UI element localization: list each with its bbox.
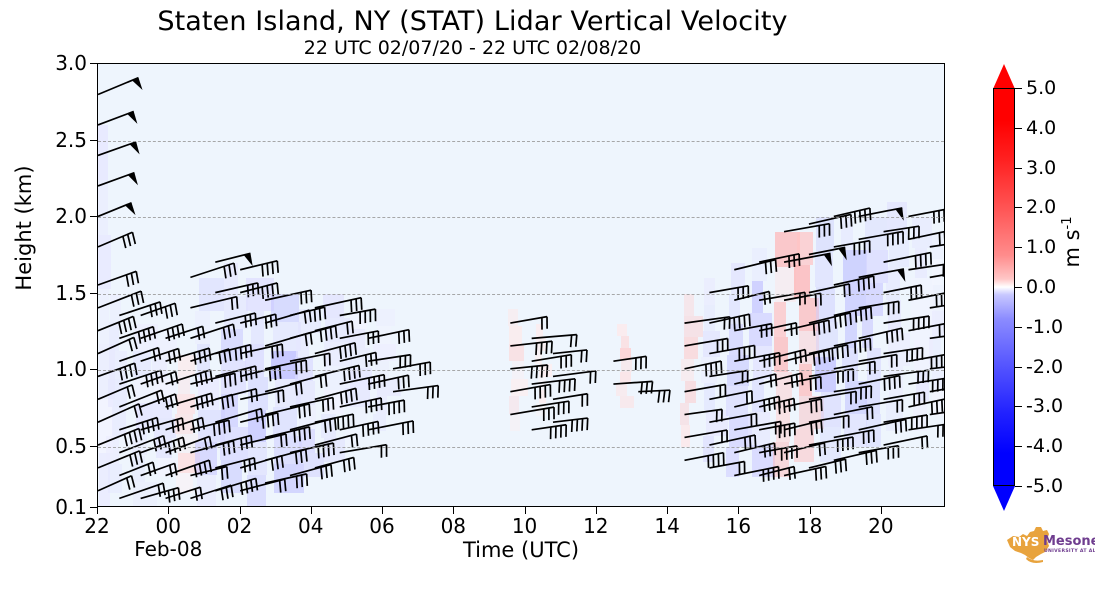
y-tick-label: 3.0 [55, 51, 87, 75]
wind-barb [685, 409, 724, 426]
wind-barb [190, 263, 237, 289]
y-tick-label: 0.1 [55, 495, 87, 519]
wind-barb [340, 421, 381, 441]
wind-barb [98, 78, 143, 107]
wind-barb [638, 390, 670, 403]
x-tick-label: 08 [441, 514, 466, 538]
x-tick-label: 16 [726, 514, 751, 538]
gridline [98, 217, 944, 218]
x-tick-label: 20 [868, 514, 893, 538]
y-tick [90, 446, 97, 447]
wind-barb [510, 407, 556, 426]
wind-barb [510, 365, 548, 381]
colorbar-under-arrow [993, 486, 1015, 511]
wind-barb [884, 316, 931, 335]
wind-barb [98, 476, 136, 502]
colorbar-tick [1015, 367, 1022, 368]
x-tick-label: 02 [227, 514, 252, 538]
wind-barb [759, 423, 797, 441]
wind-barb [784, 377, 823, 396]
wind-barb [859, 269, 907, 290]
logo-affiliation-text: UNIVERSITY AT ALBANY [1044, 548, 1095, 554]
wind-barb [368, 330, 411, 350]
x-tick-label: 14 [654, 514, 679, 538]
colorbar-tick [1015, 406, 1022, 407]
wind-barb [859, 446, 901, 465]
wind-barb [510, 317, 549, 335]
x-tick [311, 507, 312, 514]
wind-barb [119, 483, 167, 506]
wind-barb [190, 420, 231, 441]
colorbar-units: m s [1060, 229, 1084, 267]
wind-barb [215, 313, 258, 335]
y-tick-label: 1.0 [55, 357, 87, 381]
colorbar-tick-label: -4.0 [1026, 435, 1063, 457]
wind-barb [119, 390, 166, 418]
wind-barb [98, 271, 140, 296]
x-tick-label: 22 [84, 514, 109, 538]
y-tick [90, 507, 97, 508]
wind-barb [532, 425, 568, 442]
wind-barb [709, 314, 752, 335]
colorbar-tick-label: 3.0 [1026, 157, 1056, 179]
wind-barb [685, 453, 726, 472]
wind-barb [141, 463, 179, 486]
wind-barb [930, 241, 944, 259]
wind-barb [884, 370, 931, 388]
x-tick-label: 06 [369, 514, 394, 538]
y-tick-label: 0.5 [55, 434, 87, 458]
wind-barb [166, 326, 207, 349]
wind-barb [908, 263, 944, 282]
y-axis-label: Height (km) [12, 28, 36, 428]
wind-barb [809, 415, 851, 433]
wind-barb [908, 209, 944, 229]
wind-barb [98, 385, 137, 410]
y-tick-label: 1.5 [55, 281, 87, 305]
x-tick [168, 507, 169, 514]
wind-barb [141, 394, 180, 418]
wind-barb [98, 232, 137, 258]
x-tick [667, 507, 668, 514]
wind-barb [685, 338, 730, 357]
colorbar-tick-label: -3.0 [1026, 395, 1063, 417]
colorbar-tick [1015, 486, 1022, 487]
wind-barb [884, 285, 924, 304]
y-tick [90, 140, 97, 141]
wind-barb [709, 286, 750, 305]
wind-barb [119, 462, 157, 486]
wind-barb [166, 348, 213, 372]
wind-barb [930, 270, 944, 289]
wind-barb [368, 421, 415, 442]
wind-barb [784, 293, 823, 312]
y-tick-label: 2.5 [55, 128, 87, 152]
x-tick-label: 10 [512, 514, 537, 538]
x-tick [453, 507, 454, 514]
colorbar-over-arrow [993, 64, 1015, 89]
wind-barb [709, 391, 754, 411]
gridline [98, 370, 944, 371]
colorbar-tick [1015, 128, 1022, 129]
x-tick [810, 507, 811, 514]
wind-barb [290, 398, 336, 419]
wind-barb [98, 173, 139, 198]
x-axis-label: Time (UTC) [97, 538, 945, 562]
wind-barb [784, 224, 831, 244]
wind-barb [265, 310, 313, 334]
gridline [98, 294, 944, 295]
x-tick-label: 00 [156, 514, 181, 538]
colorbar-tick-label: -2.0 [1026, 356, 1063, 378]
colorbar-tick-label: -5.0 [1026, 475, 1063, 497]
wind-barb [340, 309, 378, 327]
wind-barb [834, 338, 873, 357]
wind-barb [98, 337, 139, 364]
wind-barb [368, 400, 406, 419]
y-tick [90, 293, 97, 294]
y-tick-label: 2.0 [55, 204, 87, 228]
wind-barb [685, 385, 728, 404]
colorbar-tick [1015, 446, 1022, 447]
x-tick-label: 04 [298, 514, 323, 538]
wind-barb [290, 326, 339, 350]
wind-barb [859, 301, 901, 319]
colorbar-label: m s-1 [1060, 182, 1084, 302]
y-tick [90, 216, 97, 217]
y-tick [90, 369, 97, 370]
colorbar-tick [1015, 287, 1022, 288]
colorbar-tick-label: 5.0 [1026, 77, 1056, 99]
wind-barb [190, 441, 236, 464]
wind-barb [859, 419, 909, 441]
colorbar-gradient [993, 88, 1015, 486]
colorbar-tick-label: 4.0 [1026, 117, 1056, 139]
wind-barb [510, 341, 553, 358]
wind-barb [141, 488, 182, 506]
wind-barb [190, 297, 239, 320]
colorbar [993, 63, 1015, 509]
x-tick [525, 507, 526, 514]
wind-barb [265, 474, 309, 495]
wind-barb [930, 333, 944, 351]
x-tick [596, 507, 597, 514]
plot-area [97, 63, 945, 507]
wind-barb [510, 385, 552, 404]
x-tick [382, 507, 383, 514]
colorbar-tick-label: 0.0 [1026, 276, 1056, 298]
wind-barb [613, 381, 653, 396]
gridline [98, 141, 944, 142]
colorbar-tick-label: 2.0 [1026, 196, 1056, 218]
wind-barb [734, 467, 781, 488]
wind-barb [734, 396, 782, 418]
wind-barb [734, 260, 778, 282]
x-tick [738, 507, 739, 514]
wind-barb [240, 390, 286, 411]
x-tick-label: 18 [797, 514, 822, 538]
wind-barb [859, 376, 902, 396]
wind-barb [784, 253, 833, 274]
colorbar-tick [1015, 247, 1022, 248]
wind-barb [240, 413, 280, 434]
x-tick [881, 507, 882, 514]
x-tick-label: 12 [583, 514, 608, 538]
colorbar-tick-label: -1.0 [1026, 316, 1063, 338]
wind-barb [709, 462, 746, 480]
colorbar-tick [1015, 327, 1022, 328]
colorbar-tick-label: 1.0 [1026, 236, 1056, 258]
wind-barb [759, 292, 807, 312]
x-tick [97, 507, 98, 514]
chart-subtitle: 22 UTC 02/07/20 - 22 UTC 02/08/20 [0, 37, 945, 59]
gridline [98, 447, 944, 448]
wind-barb [908, 293, 944, 312]
wind-barb [98, 111, 138, 137]
nys-mesonet-logo: NYS Mesonet UNIVERSITY AT ALBANY [1003, 524, 1095, 566]
x-tick [240, 507, 241, 514]
wind-barb-layer [98, 64, 944, 506]
wind-barb [98, 142, 141, 168]
logo-mesonet-text: Mesonet [1043, 534, 1095, 549]
wind-barb [119, 327, 157, 350]
wind-barb [290, 307, 327, 327]
wind-barb [240, 261, 280, 282]
logo-nys-text: NYS [1012, 535, 1039, 549]
colorbar-tick [1015, 88, 1022, 89]
colorbar-tick [1015, 168, 1022, 169]
wind-barb [98, 363, 139, 388]
colorbar-tick [1015, 207, 1022, 208]
y-tick [90, 63, 97, 64]
chart-title: Staten Island, NY (STAT) Lidar Vertical … [0, 6, 945, 37]
colorbar-exponent: -1 [1060, 216, 1075, 229]
wind-barb [315, 343, 358, 365]
wind-barb [859, 400, 905, 419]
wind-barb [98, 203, 136, 229]
